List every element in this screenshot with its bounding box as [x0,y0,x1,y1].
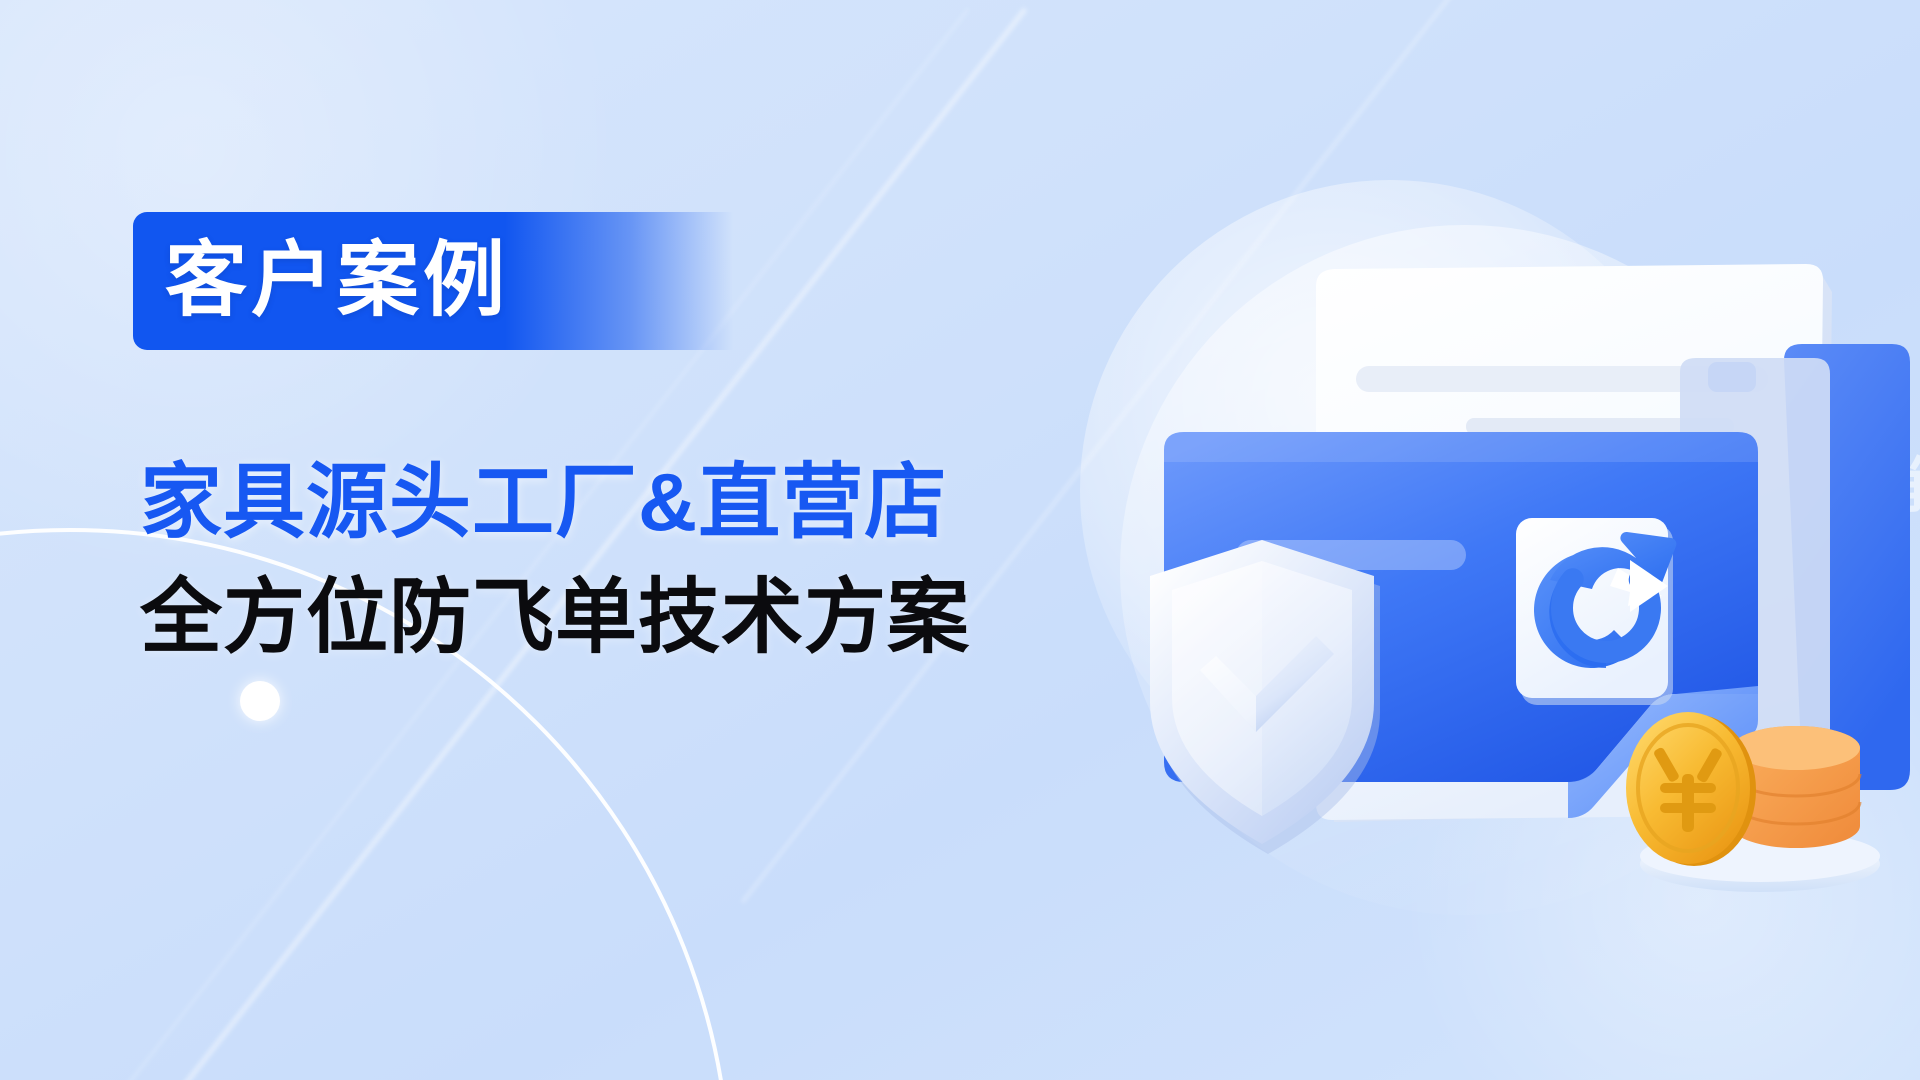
headline-line-1: 家具源头工厂&直营店 [140,455,970,552]
accent-dot-decoration [240,681,280,721]
hero-illustration [1120,250,1920,910]
yuan-coin-front [1626,712,1756,866]
yuan-coin-stack [1626,712,1880,892]
category-badge-label: 客户案例 [133,240,509,322]
category-badge: 客户案例 [133,212,733,350]
banner-root: 消 客户案例 家具源头工厂&直营店 全方位防飞单技术方案 [0,0,1920,1080]
headline-block: 家具源头工厂&直营店 全方位防飞单技术方案 [140,455,970,667]
refresh-arrow-icon-tile [1516,518,1676,705]
headline-line-2: 全方位防飞单技术方案 [140,570,970,667]
